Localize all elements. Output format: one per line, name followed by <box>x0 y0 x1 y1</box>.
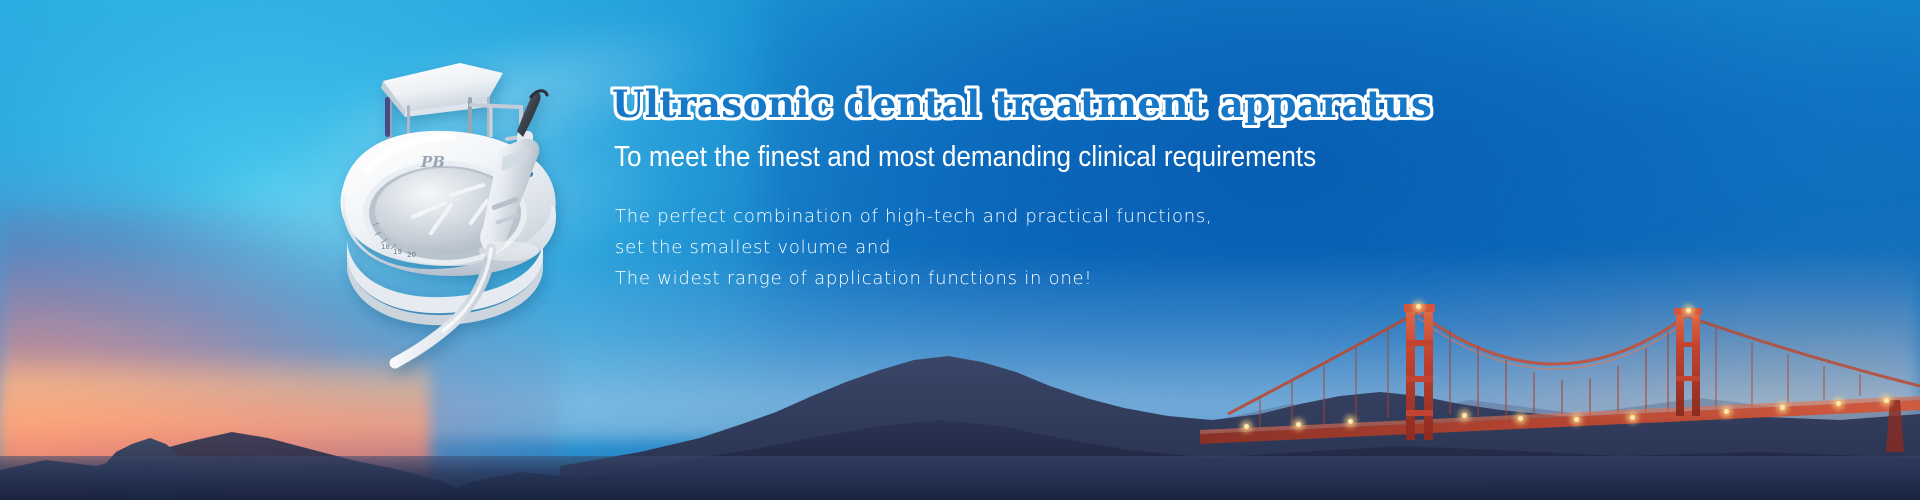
bridge-lamp <box>1462 413 1467 418</box>
product-image-ultrasonic-scaler: 20 19 18 10 5 PB <box>255 45 585 355</box>
bridge-lamp <box>1244 424 1249 429</box>
bridge-lamp <box>1574 417 1579 422</box>
page-title: Ultrasonic dental treatment apparatus <box>612 86 1312 123</box>
description-line-2: set the smallest volume and <box>615 233 1312 264</box>
banner-copy-block: Ultrasonic dental treatment apparatus To… <box>612 86 1312 295</box>
product-hero-banner: 20 19 18 10 5 PB <box>0 0 1920 500</box>
bridge-lamp <box>1518 416 1523 421</box>
bridge-lamp <box>1836 401 1841 406</box>
bridge-lamp <box>1348 419 1353 424</box>
bridge-tower-beacon <box>1686 308 1691 313</box>
device-brand-mark: PB <box>420 153 445 171</box>
description-line-1: The perfect combination of high-tech and… <box>615 202 1312 233</box>
bridge-lamp <box>1296 422 1301 427</box>
dial-mark-19: 19 <box>393 248 402 256</box>
page-subtitle: To meet the finest and most demanding cl… <box>614 142 1242 172</box>
bridge-lamp <box>1884 398 1889 403</box>
bridge-tower-beacon <box>1416 304 1421 309</box>
bridge-lamp <box>1780 405 1785 410</box>
bridge-lamp <box>1630 415 1635 420</box>
description-line-3: The widest range of application function… <box>615 264 1312 295</box>
dial-mark-18: 18 <box>381 243 390 251</box>
bridge-lamp <box>1724 409 1729 414</box>
dial-mark-20: 20 <box>407 251 416 259</box>
banner-description: The perfect combination of high-tech and… <box>615 202 1312 295</box>
